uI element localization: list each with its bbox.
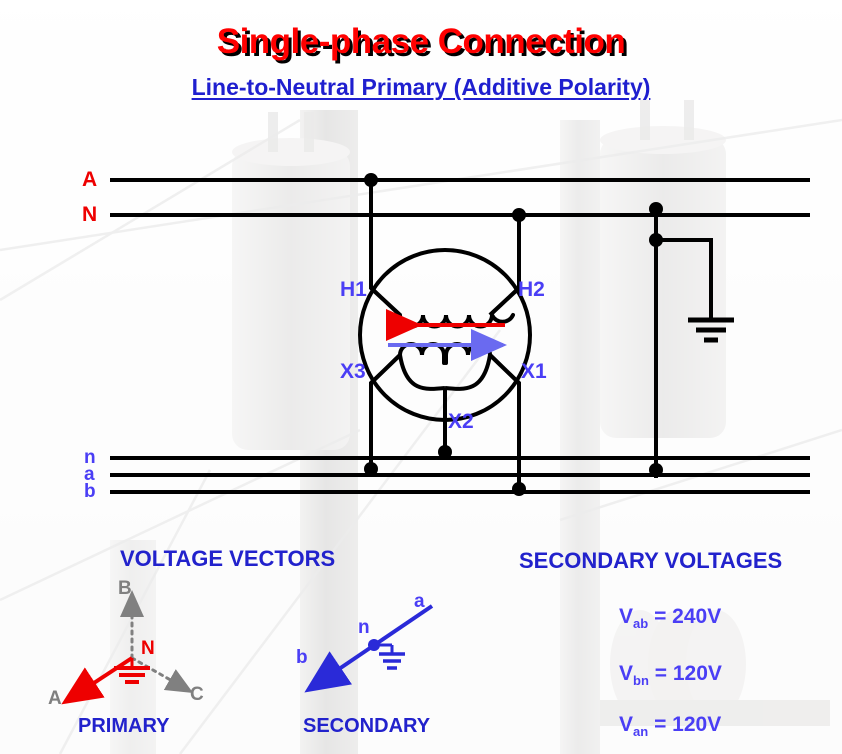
bus-label-b: b — [84, 481, 96, 503]
voltage-equals: = — [654, 713, 666, 736]
phasor-label-B: B — [118, 578, 132, 600]
ground-branch — [656, 240, 711, 320]
terminal-label-H2: H2 — [518, 278, 545, 302]
phasor-label-C: C — [190, 684, 204, 706]
primary-vectors-caption: PRIMARY — [78, 715, 169, 738]
wiring-diagram — [0, 0, 842, 754]
voltage-equals: = — [655, 662, 667, 685]
primary-crossover — [371, 288, 519, 315]
voltage-value: 120V — [672, 713, 721, 736]
phasor-label-N: N — [141, 638, 155, 660]
voltage-symbol: V — [619, 605, 633, 628]
voltage-symbol: V — [619, 713, 633, 736]
ground-symbol-primary — [114, 658, 150, 682]
terminal-label-H1: H1 — [340, 278, 367, 302]
voltage-value: 240V — [672, 605, 721, 628]
voltage-value: 120V — [673, 662, 722, 685]
terminal-label-X2: X2 — [448, 410, 474, 434]
bus-label-A: A — [82, 168, 97, 192]
voltage-symbol: V — [619, 662, 633, 685]
voltage-equals: = — [654, 605, 666, 628]
phasor-label-A: A — [48, 688, 62, 710]
ground-symbol-right — [688, 320, 734, 340]
secondary-vectors-caption: SECONDARY — [303, 715, 430, 738]
secondary-arc-left — [400, 355, 445, 389]
secondary-voltages-heading: SECONDARY VOLTAGES — [519, 548, 782, 574]
phasor-label-n: n — [358, 617, 370, 639]
secondary-vector-diagram — [311, 606, 432, 688]
primary-vector-diagram — [68, 596, 188, 700]
lead-X1 — [490, 355, 519, 492]
voltage-subscript: bn — [633, 673, 649, 688]
voltage-row-bn: Vbn = 120V — [619, 662, 722, 688]
junction-dots — [364, 173, 663, 496]
voltage-row-ab: Vab = 240V — [619, 605, 721, 631]
terminal-label-X3: X3 — [340, 360, 366, 384]
voltage-vectors-heading: VOLTAGE VECTORS — [120, 546, 335, 572]
terminal-label-X1: X1 — [521, 360, 547, 384]
voltage-row-an: Van = 120V — [619, 713, 721, 739]
voltage-subscript: an — [633, 724, 648, 739]
bus-label-N: N — [82, 203, 97, 227]
phasor-A — [68, 658, 132, 700]
phasor-label-b: b — [296, 647, 308, 669]
slide-canvas: Single-phase Connection Line-to-Neutral … — [0, 0, 842, 754]
secondary-arc-right — [445, 355, 490, 389]
phasor-label-a: a — [414, 591, 425, 613]
voltage-subscript: ab — [633, 616, 648, 631]
